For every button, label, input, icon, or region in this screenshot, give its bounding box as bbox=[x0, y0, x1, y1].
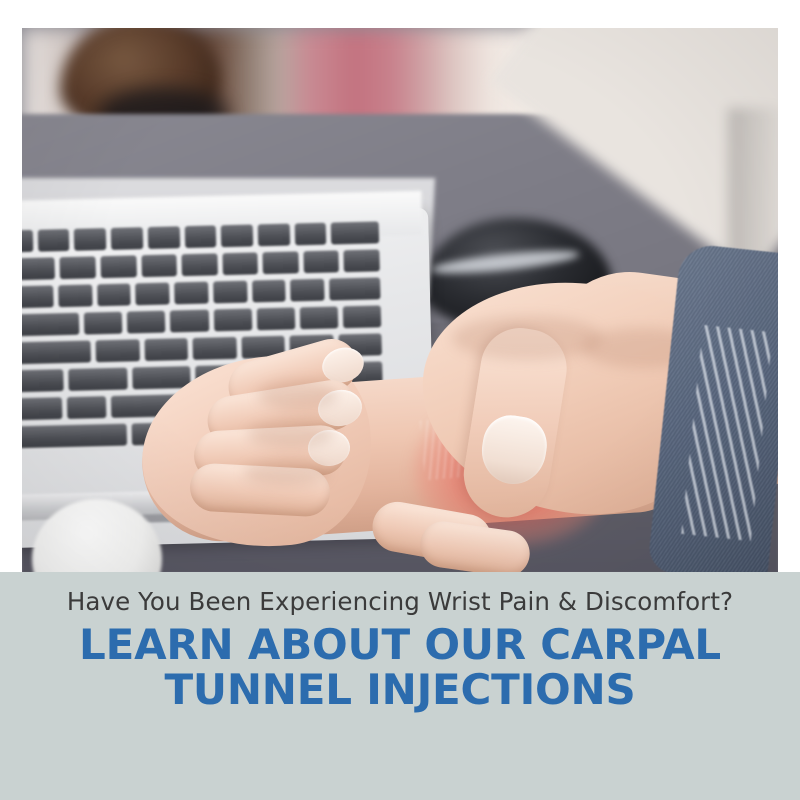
keyboard-key bbox=[258, 224, 290, 247]
keyboard-key bbox=[22, 230, 33, 253]
keyboard-row bbox=[22, 249, 380, 280]
patient-knuckle-shadow bbox=[248, 420, 334, 448]
keyboard-key bbox=[22, 340, 91, 364]
keyboard-key bbox=[331, 221, 379, 244]
keyboard-key bbox=[182, 253, 218, 276]
keyboard-key bbox=[67, 396, 106, 419]
keyboard-key bbox=[141, 254, 177, 277]
keyboard-key bbox=[303, 250, 339, 273]
hero-photo bbox=[22, 28, 778, 573]
keyboard-key bbox=[74, 228, 106, 251]
keyboard-key bbox=[213, 309, 252, 332]
keyboard-key bbox=[22, 369, 64, 392]
keyboard-key bbox=[97, 283, 131, 306]
keyboard-key bbox=[58, 284, 92, 307]
keyboard-key bbox=[95, 339, 139, 362]
headline-line-2: TUNNEL INJECTIONS bbox=[0, 668, 800, 713]
keyboard-key bbox=[144, 338, 188, 361]
keyboard-row bbox=[22, 305, 381, 336]
keyboard-key bbox=[291, 279, 325, 302]
keyboard-key bbox=[135, 283, 169, 306]
keyboard-key bbox=[148, 226, 180, 249]
patient-knuckle-shadow bbox=[244, 460, 328, 486]
keyboard-key bbox=[174, 282, 208, 305]
keyboard-key bbox=[344, 249, 380, 272]
keyboard-key bbox=[22, 257, 55, 280]
gripping-hand-shadow bbox=[452, 316, 602, 360]
keyboard-key bbox=[184, 225, 216, 248]
keyboard-key bbox=[300, 306, 339, 329]
keyboard-key bbox=[22, 285, 53, 308]
keyboard-key bbox=[68, 368, 127, 391]
keyboard-key bbox=[60, 256, 96, 279]
subheadline: Have You Been Experiencing Wrist Pain & … bbox=[0, 572, 800, 616]
keyboard-row bbox=[22, 277, 381, 308]
headline-line-1: LEARN ABOUT OUR CARPAL bbox=[0, 623, 800, 668]
keyboard-key bbox=[127, 311, 166, 334]
keyboard-key bbox=[222, 252, 258, 275]
keyboard-key bbox=[37, 229, 69, 252]
text-band: Have You Been Experiencing Wrist Pain & … bbox=[0, 572, 800, 800]
keyboard-key bbox=[170, 310, 209, 333]
keyboard-key bbox=[221, 224, 253, 247]
keyboard-key bbox=[22, 313, 80, 337]
keyboard-key bbox=[213, 281, 247, 304]
keyboard-key bbox=[22, 424, 127, 449]
keyboard-key bbox=[22, 397, 63, 420]
keyboard-key bbox=[111, 227, 143, 250]
keyboard-key bbox=[343, 305, 382, 328]
patient-knuckle-shadow bbox=[258, 380, 338, 410]
keyboard-key bbox=[84, 312, 123, 335]
keyboard-key bbox=[192, 337, 236, 360]
keyboard-key bbox=[256, 307, 295, 330]
keyboard-key bbox=[294, 223, 326, 246]
keyboard-key bbox=[329, 277, 380, 300]
keyboard-key bbox=[252, 280, 286, 303]
keyboard-key bbox=[100, 255, 136, 278]
ad-card: Have You Been Experiencing Wrist Pain & … bbox=[0, 0, 800, 800]
headline: LEARN ABOUT OUR CARPAL TUNNEL INJECTIONS bbox=[0, 616, 800, 713]
keyboard-key bbox=[263, 251, 299, 274]
